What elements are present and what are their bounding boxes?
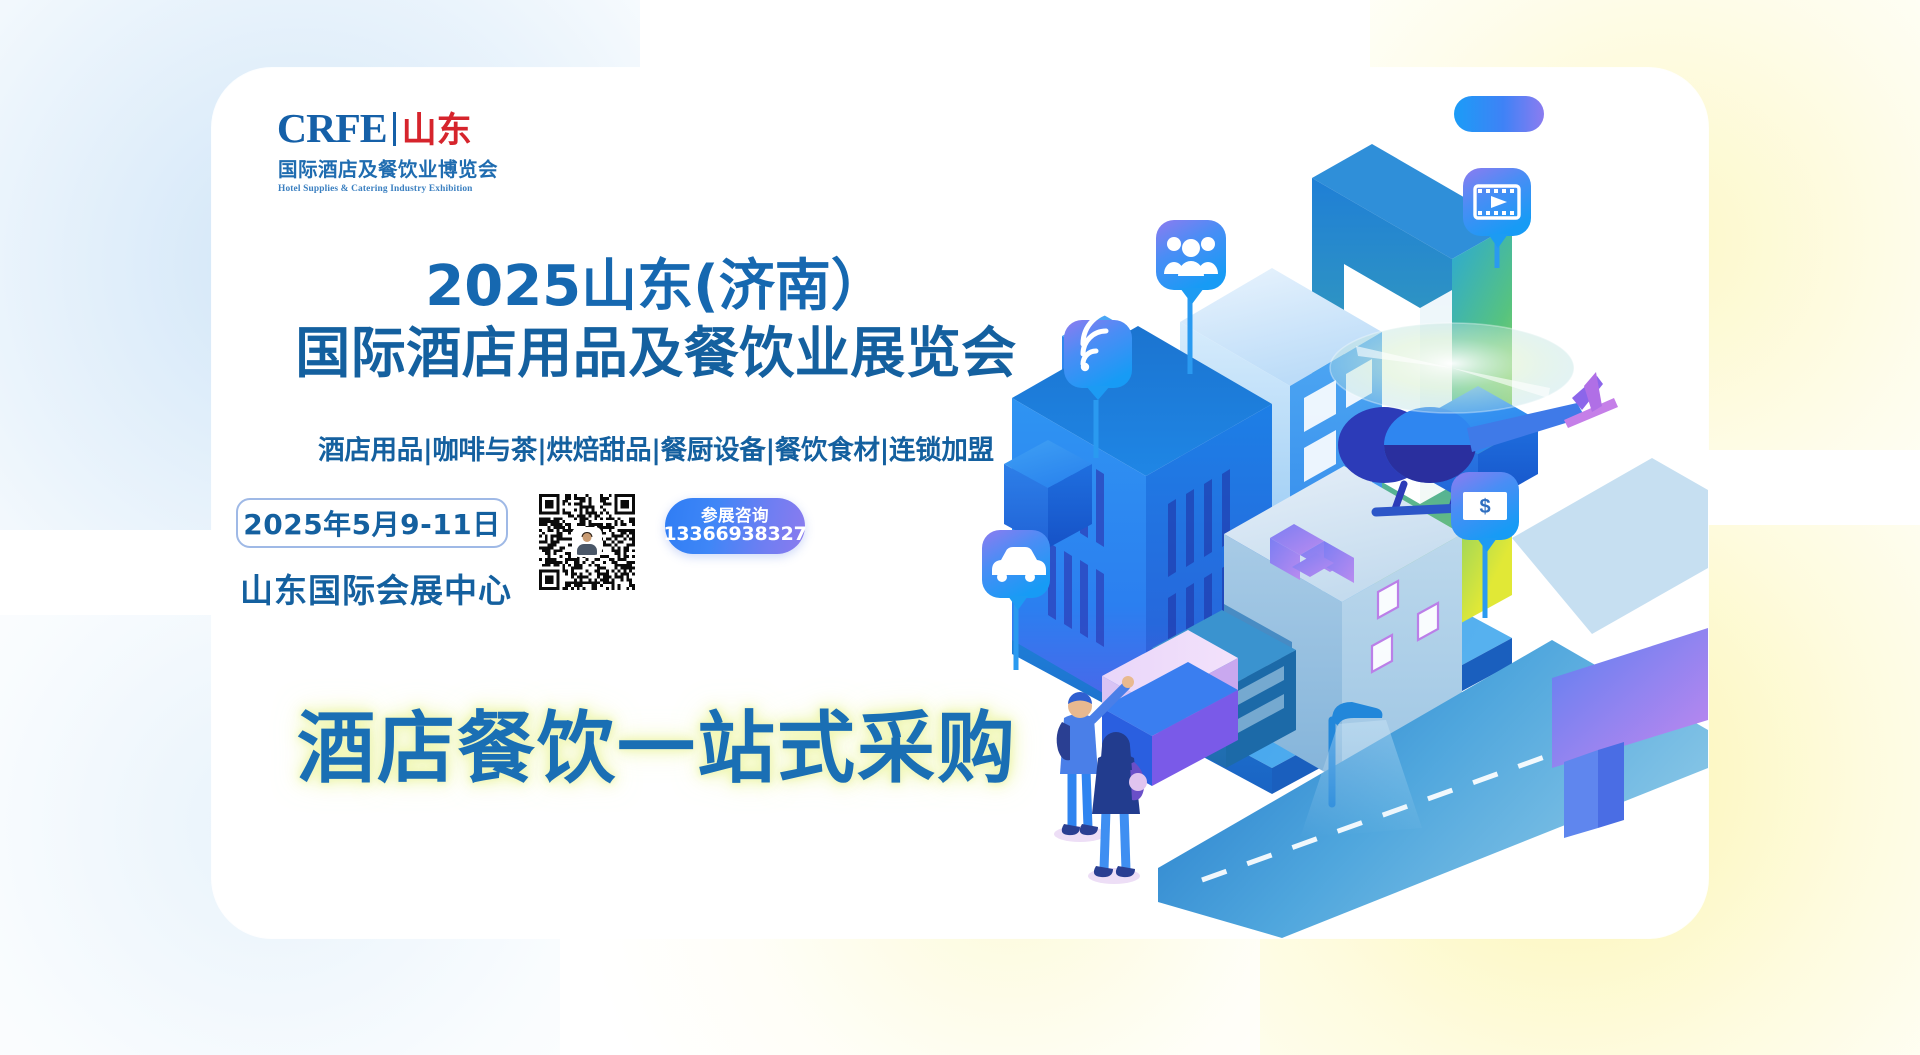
pill-shape bbox=[1454, 96, 1544, 132]
poster-card: CRFE 山东 国际酒店及餐饮业博览会 Hotel Supplies & Cat… bbox=[212, 68, 1708, 938]
brand-logo: CRFE 山东 国际酒店及餐饮业博览会 Hotel Supplies & Cat… bbox=[278, 108, 478, 194]
logo-english-name: Hotel Supplies & Catering Industry Exhib… bbox=[278, 184, 478, 194]
logo-region-text: 山东 bbox=[402, 114, 472, 149]
isometric-city-illustration: $ bbox=[952, 68, 1708, 938]
venue-text: 山东国际会展中心 bbox=[240, 564, 512, 612]
logo-chinese-name: 国际酒店及餐饮业博览会 bbox=[278, 153, 478, 182]
title-line-1: 2025山东(济南） bbox=[276, 256, 1036, 319]
money-icon: $ bbox=[1463, 492, 1507, 520]
logo-primary-row: CRFE 山东 bbox=[278, 108, 478, 149]
date-text: 2025年5月9-11日 bbox=[243, 503, 500, 543]
svg-text:$: $ bbox=[1479, 496, 1490, 518]
slogan-text: 酒店餐饮一站式采购 bbox=[242, 686, 1072, 798]
contact-badge[interactable]: 参展咨询 13366938327 bbox=[665, 498, 805, 554]
qr-avatar bbox=[574, 529, 600, 555]
date-badge: 2025年5月9-11日 bbox=[236, 498, 508, 548]
info-row: 2025年5月9-11日 山东国际会展中心 参展咨询 13366938327 bbox=[236, 498, 1036, 678]
title-line-2: 国际酒店用品及餐饮业展览会 bbox=[276, 321, 1036, 386]
ground-right bbox=[1512, 458, 1708, 634]
headline-block: 2025山东(济南） 国际酒店用品及餐饮业展览会 bbox=[276, 256, 1036, 386]
contact-phone: 13366938327 bbox=[663, 524, 806, 545]
contact-label: 参展咨询 bbox=[701, 507, 769, 524]
logo-divider bbox=[393, 112, 396, 146]
category-list: 酒店用品|咖啡与茶|烘焙甜品|餐厨设备|餐饮食材|连锁加盟 bbox=[276, 428, 1036, 467]
qr-code[interactable] bbox=[539, 494, 635, 590]
poster-root: CRFE 山东 国际酒店及餐饮业博览会 Hotel Supplies & Cat… bbox=[0, 0, 1920, 1055]
logo-brand-text: CRFE bbox=[277, 108, 387, 149]
